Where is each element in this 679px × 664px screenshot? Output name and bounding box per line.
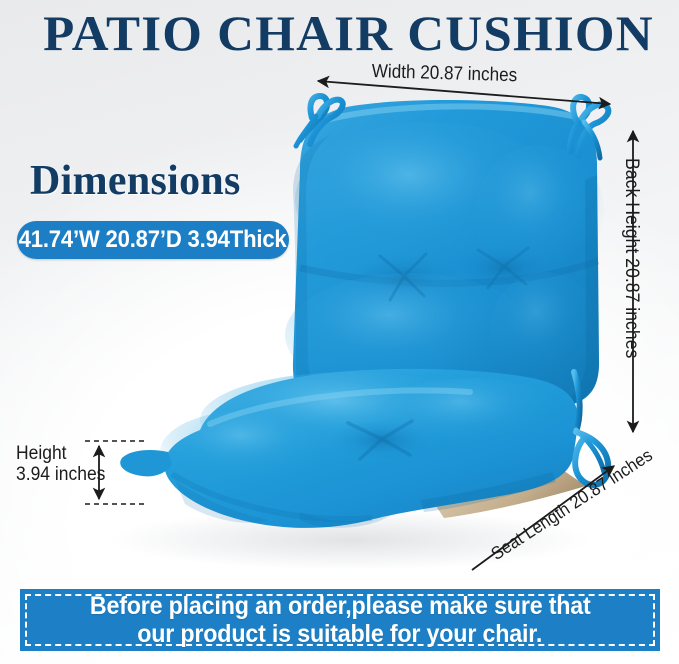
back-height-label: Back Height 20.87 inches [620, 158, 641, 358]
infographic-canvas: PATIO CHAIR CUSHION [0, 0, 679, 664]
notice-banner: Before placing an order,please make sure… [20, 589, 660, 651]
notice-line-2: our product is suitable for your chair. [138, 620, 543, 648]
width-label: Width 20.87 inches [372, 62, 518, 87]
height-label: Height 3.94 inches [16, 443, 105, 486]
height-label-line2: 3.94 inches [16, 464, 105, 485]
dimensions-heading: Dimensions [30, 160, 241, 202]
back-cushion [285, 100, 605, 415]
seat-cushion [120, 369, 586, 528]
product-image [0, 0, 679, 664]
height-label-line1: Height [16, 443, 105, 464]
dimensions-badge: 41.74’W 20.87’D 3.94Thick [17, 221, 289, 259]
dimensions-badge-text: 41.74’W 20.87’D 3.94Thick [19, 228, 287, 252]
notice-line-1: Before placing an order,please make sure… [90, 592, 591, 620]
